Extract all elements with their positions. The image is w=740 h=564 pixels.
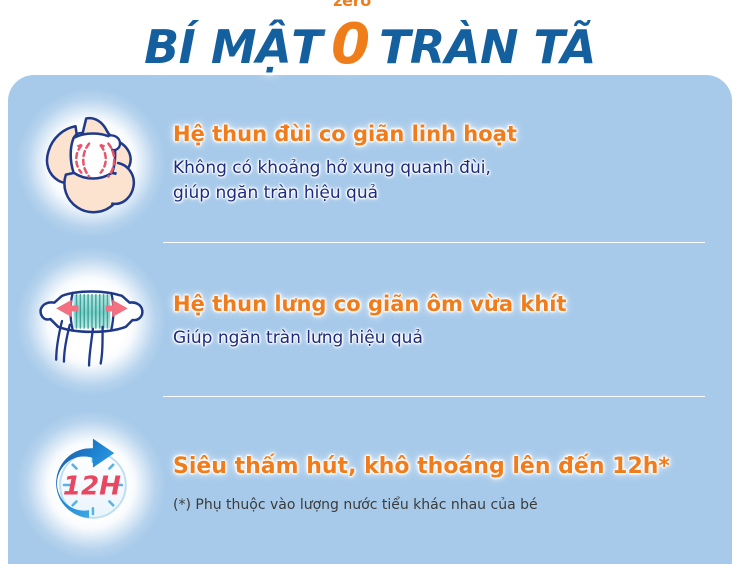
feature-heading: Hệ thun đùi co giãn linh hoạt bbox=[173, 121, 704, 147]
feature-row-waistband-elastic: Hệ thun lưng co giãn ôm vừa khít Giúp ng… bbox=[8, 250, 732, 392]
feature-body: Không có khoảng hở xung quanh đùi, giúp … bbox=[173, 156, 704, 205]
title-zero-group: zero 0 bbox=[331, 17, 370, 73]
feature-icon-cell: 12H bbox=[8, 412, 173, 557]
page-title: BÍ MẬT zero 0 TRÀN TÃ bbox=[0, 0, 740, 80]
feature-row-absorption-12h: 12H Siêu thấm hút, khô thoáng lên đến 12… bbox=[8, 412, 732, 557]
feature-body-line-1: Không có khoảng hở xung quanh đùi, bbox=[173, 156, 704, 181]
feature-heading: Hệ thun lưng co giãn ôm vừa khít bbox=[173, 291, 704, 317]
clock-label: 12H bbox=[62, 471, 120, 501]
title-part-2: TRÀN TÃ bbox=[379, 20, 596, 74]
title-inner: BÍ MẬT zero 0 TRÀN TÃ bbox=[144, 17, 596, 80]
feature-text-cell: Siêu thấm hút, khô thoáng lên đến 12h* (… bbox=[173, 453, 732, 516]
clock-12h-icon: 12H bbox=[33, 427, 149, 543]
section-divider bbox=[163, 396, 705, 397]
title-part-1: BÍ MẬT bbox=[144, 20, 322, 74]
feature-body-line-2: giúp ngăn tràn hiệu quả bbox=[173, 181, 704, 206]
section-divider bbox=[163, 242, 705, 243]
baby-diaper-thigh-icon bbox=[33, 105, 149, 221]
feature-icon-cell bbox=[8, 249, 173, 394]
feature-heading: Siêu thấm hút, khô thoáng lên đến 12h* bbox=[173, 453, 704, 481]
feature-row-thigh-elastic: Hệ thun đùi co giãn linh hoạt Không có k… bbox=[8, 88, 732, 238]
title-zero-label: zero bbox=[333, 0, 371, 10]
feature-body-line-1: Giúp ngăn tràn lưng hiệu quả bbox=[173, 326, 704, 351]
diaper-waistband-stretch-icon bbox=[33, 263, 149, 379]
feature-note: (*) Phụ thuộc vào lượng nước tiểu khác n… bbox=[173, 496, 704, 516]
feature-body: Giúp ngăn tràn lưng hiệu quả bbox=[173, 326, 704, 351]
feature-text-cell: Hệ thun đùi co giãn linh hoạt Không có k… bbox=[173, 121, 732, 206]
feature-icon-cell bbox=[8, 91, 173, 236]
title-zero-digit: 0 bbox=[331, 12, 370, 77]
feature-text-cell: Hệ thun lưng co giãn ôm vừa khít Giúp ng… bbox=[173, 291, 732, 351]
